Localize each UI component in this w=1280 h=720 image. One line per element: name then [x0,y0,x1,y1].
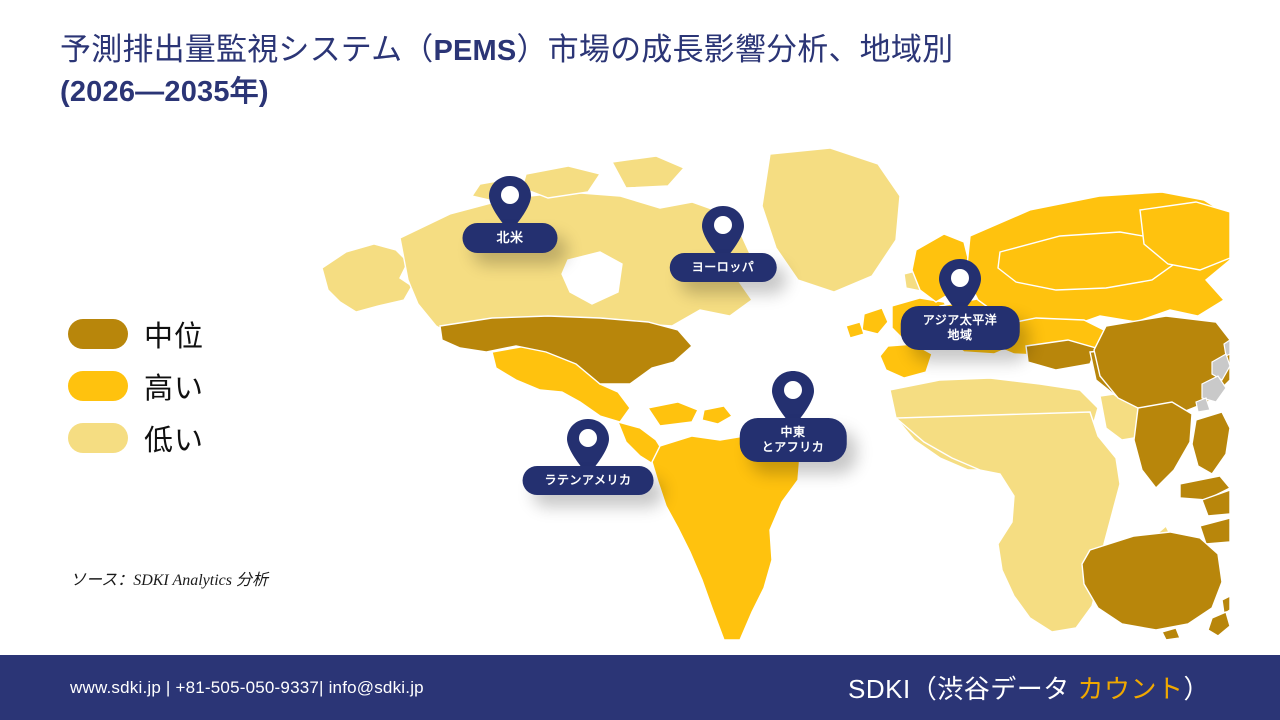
pin-label-latin-america: ラテンアメリカ [523,466,654,495]
legend-label-high: 高い [144,365,204,407]
legend-swatch-high [68,371,128,401]
brand-text-pre: SDKI（渋谷データ [848,674,1077,704]
title-line-2: (2026—2035年) [60,72,1220,113]
pin-label-middle-east-africa: 中東 とアフリカ [740,418,847,462]
map-legend: 中位 高い 低い [68,312,298,468]
brand-text-accent: カウント [1077,674,1183,704]
legend-item-medium: 中位 [68,312,298,356]
world-map-svg [300,140,1230,640]
brand-text-post: ） [1183,674,1210,704]
pin-label-asia-pacific: アジア太平洋 地域 [901,306,1020,350]
title-text-post: ）市場の成長影響分析、地域別 [516,32,953,67]
page-title: 予測排出量監視システム（PEMS）市場の成長影響分析、地域別 (2026—203… [60,28,1220,113]
legend-item-high: 高い [68,364,298,408]
title-acronym-pems: PEMS [433,35,516,67]
legend-label-medium: 中位 [144,313,204,355]
pin-label-europe: ヨーロッパ [670,253,777,282]
footer-brand: SDKI（渋谷データ カウント） [848,669,1210,706]
source-note: ソース：SDKI Analytics 分析 [70,566,268,590]
footer-contact-info[interactable]: www.sdki.jp | +81-505-050-9337| info@sdk… [70,678,424,698]
title-text-pre: 予測排出量監視システム（ [60,32,433,67]
footer-bar: www.sdki.jp | +81-505-050-9337| info@sdk… [0,655,1280,720]
legend-label-low: 低い [144,417,204,459]
legend-item-low: 低い [68,416,298,460]
legend-swatch-low [68,423,128,453]
pin-label-north-america: 北米 [462,223,557,253]
title-line-1: 予測排出量監視システム（PEMS）市場の成長影響分析、地域別 [60,28,1220,72]
world-map-container: 北米 ヨーロッパ アジア太平洋 地域 中東 とアフリカ ラテンアメリカ [300,140,1230,640]
legend-swatch-medium [68,319,128,349]
